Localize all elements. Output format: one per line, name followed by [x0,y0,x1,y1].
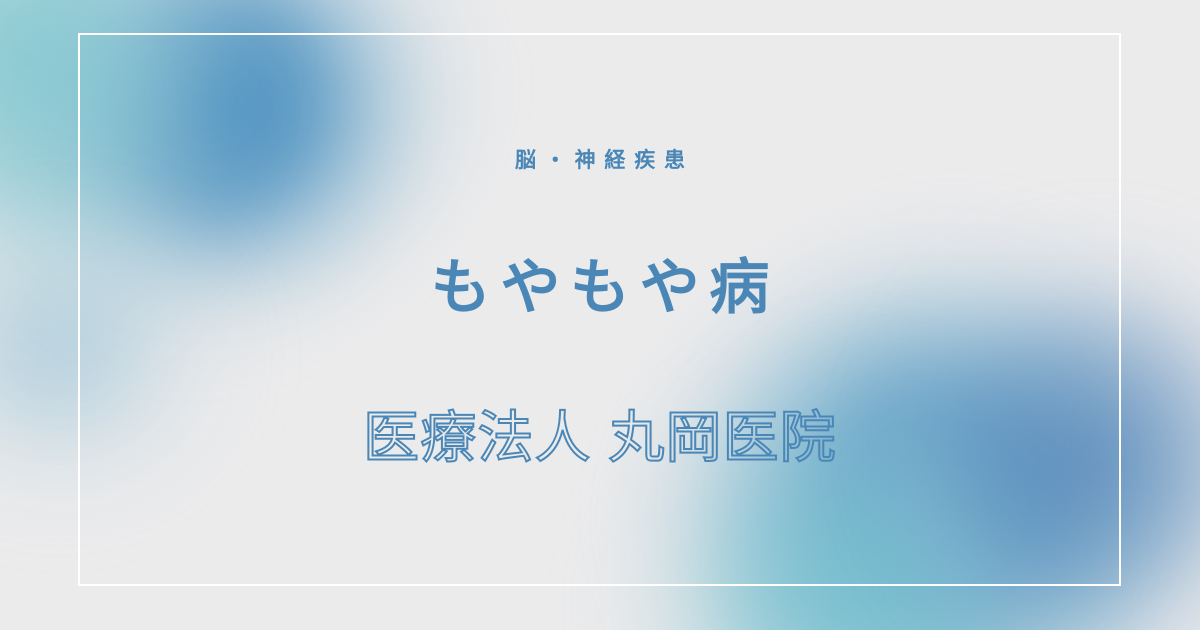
hero-content: 脳・神経疾患 もやもや病 医療法人 丸岡医院 [0,0,1200,630]
organization-name: 医療法人 丸岡医院 [363,407,837,469]
hero-card: 脳・神経疾患 もやもや病 医療法人 丸岡医院 [0,0,1200,630]
page-title: もやもや病 [421,255,779,321]
category-label: 脳・神経疾患 [506,150,694,171]
